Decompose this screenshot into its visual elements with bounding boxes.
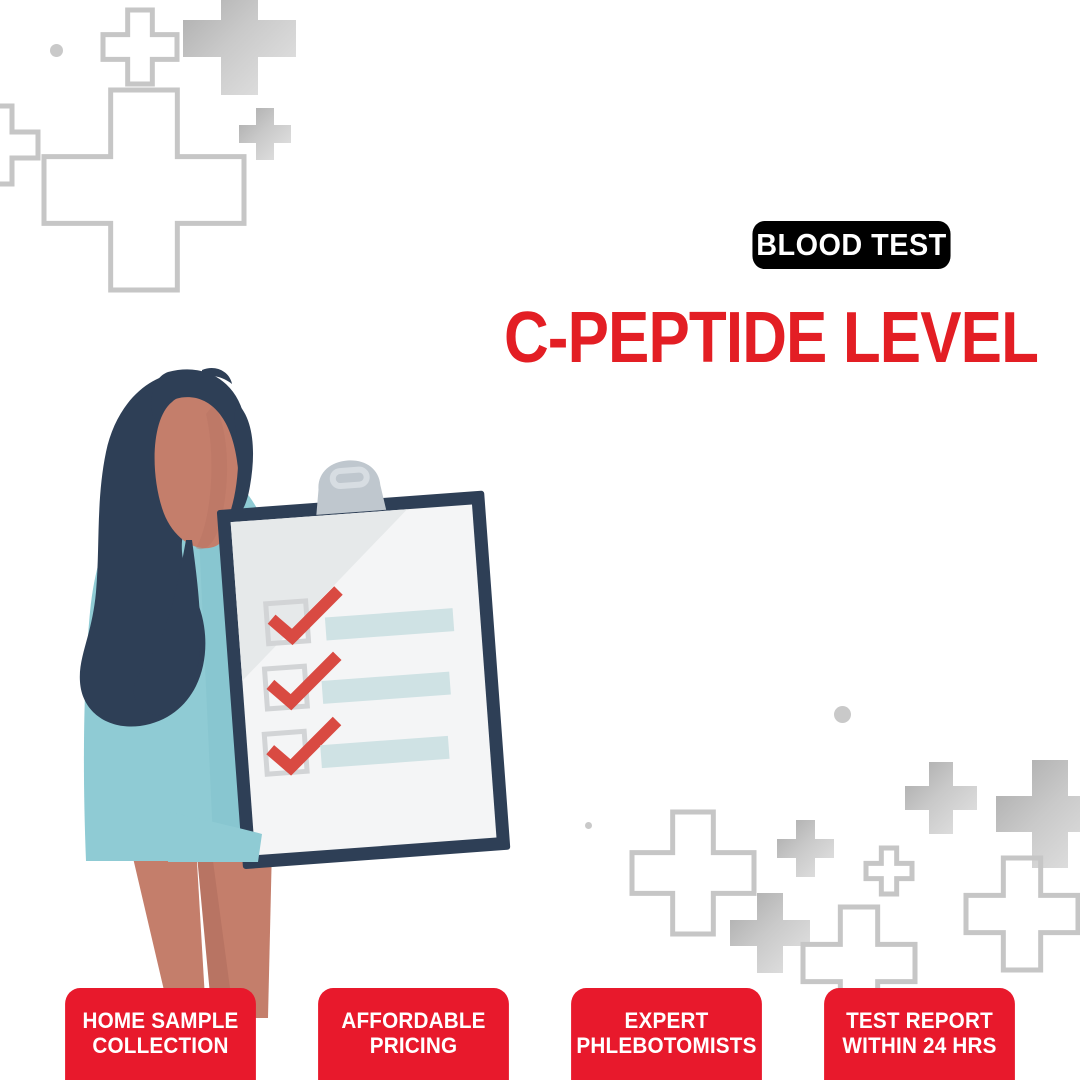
feature-badge-expert-phlebotomists[interactable]: EXPERTPHLEBOTOMISTS (571, 988, 762, 1080)
feature-badge-row: HOME SAMPLECOLLECTIONAFFORDABLEPRICINGEX… (0, 988, 1080, 1080)
feature-badge-home-sample-collection[interactable]: HOME SAMPLECOLLECTION (65, 988, 256, 1080)
poster-canvas: BLOOD TEST C-PEPTIDE LEVEL HOME SAMPLECO… (0, 0, 1080, 1080)
clipboard-clip-icon (313, 458, 387, 515)
feature-badge-line1: AFFORDABLE (341, 1009, 485, 1034)
clipboard (214, 451, 511, 870)
feature-badge-test-report-24hrs[interactable]: TEST REPORTWITHIN 24 HRS (824, 988, 1015, 1080)
feature-badge-line2: PHLEBOTOMISTS (576, 1034, 756, 1059)
feature-badge-label: AFFORDABLEPRICING (341, 1009, 485, 1058)
illustration-woman-with-clipboard (0, 0, 1080, 1080)
feature-badge-line1: TEST REPORT (842, 1009, 996, 1034)
blood-test-badge: BLOOD TEST (752, 221, 950, 269)
feature-badge-label: TEST REPORTWITHIN 24 HRS (842, 1009, 996, 1058)
page-title: C-PEPTIDE LEVEL (504, 302, 1038, 374)
feature-badge-line2: WITHIN 24 HRS (842, 1034, 996, 1059)
feature-badge-label: HOME SAMPLECOLLECTION (82, 1009, 238, 1058)
feature-badge-line2: PRICING (341, 1034, 485, 1059)
blood-test-badge-label: BLOOD TEST (756, 227, 946, 263)
feature-badge-affordable-pricing[interactable]: AFFORDABLEPRICING (318, 988, 509, 1080)
feature-badge-label: EXPERTPHLEBOTOMISTS (576, 1009, 756, 1058)
feature-badge-line2: COLLECTION (82, 1034, 238, 1059)
feature-badge-line1: HOME SAMPLE (82, 1009, 238, 1034)
feature-badge-line1: EXPERT (576, 1009, 756, 1034)
